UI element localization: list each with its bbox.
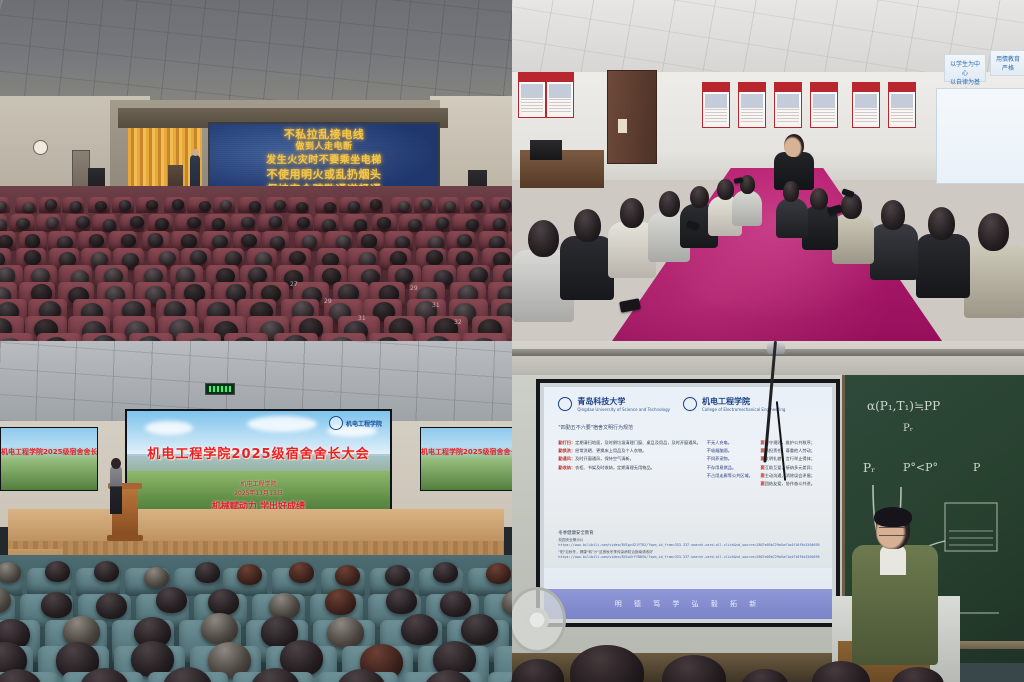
participant-body [832,214,874,264]
slide-bullet: 勤通风：及时开窗通风，保持空气清新。 [558,456,700,462]
slide-university-name-en: Qingdao University of Science and Techno… [577,407,670,412]
slide-bullet: 勤收纳：衣柜、书架及时收纳，定期清理无用物品。 [558,465,700,471]
seat-number: 31 [432,302,440,309]
audience-head [499,199,511,209]
audience-head [0,235,13,248]
audience-head [46,217,60,229]
photo-bottom-right-classroom-briefing: α(P₁,T₁)≒PP Pᵣ Pᵣ P°<P° P [512,341,1024,682]
exit-sign-icon [205,383,235,395]
audience-head [296,202,308,212]
student-audience [0,555,512,682]
audience-head [335,565,360,586]
wall-poster [852,82,880,128]
participant-head [574,209,601,242]
participant-body [916,234,970,298]
audience-head [401,614,438,645]
student-head [892,667,944,682]
slide-bullet: 要文明礼貌，言行举止得体； [760,456,820,462]
participant-body [870,224,918,280]
audience-head [41,592,72,618]
slide-column-right: 要遵守规则，维护公共秩序；要承担责任，尊重他人劳动；要文明礼貌，言行举止得体；要… [760,440,820,488]
slide-footer-motto: 明 德 笃 学 弘 毅 拓 新 [615,599,762,609]
side-led-screen-left: 机电工程学院2025级宿舍舍长大会 [0,427,98,491]
slide-bullet: 勤打扫：定期清扫地面，及时倒垃圾清理门窗、桌且及用品，及时开窗通风。 [558,440,700,446]
poster-image [891,94,913,108]
poster-text [777,109,799,123]
speaker-at-podium [110,466,122,514]
cloud-shape [247,416,317,432]
participant-head [620,198,644,227]
slide-university-name: 青岛科技大学 [577,396,670,407]
slide-bullet: 不吸烟酗酒。 [707,448,755,454]
participant-head [978,213,1009,251]
poster-text [855,109,877,123]
audience-head [130,216,144,228]
slide-college-name: 机电工程学院 [702,396,785,407]
student-head [662,655,726,682]
audience-head [348,201,360,211]
audience-head [23,202,35,212]
side-led-screen-right: 机电工程学院2025级宿舍舍长大会 [420,427,512,491]
presenter-hair [874,507,912,527]
audience-head [325,589,356,615]
audience-head [386,588,417,614]
seat-number: 27 [290,281,298,288]
link1-url[interactable]: https://www.bilibili.com/video/BV1gx421Y… [558,543,820,547]
slide-college-name-en: College of Electromechanical Engineering [702,407,785,412]
led-line-4: 不使用明火或乱扔烟头 [210,166,438,182]
cloud-shape [145,421,193,435]
audience-head [440,591,471,617]
link2-url[interactable]: https://www.bilibili.com/video/BV1wVrYY8… [558,555,820,559]
student-head [570,645,644,682]
poster-header [889,83,915,92]
audience-head [225,251,242,266]
audience-head [103,219,117,231]
hall-seat [488,672,512,682]
audience-head [16,218,30,230]
audience-head [190,250,207,265]
poster-image [855,94,877,108]
audience-head [385,565,410,586]
participant-head [717,179,734,200]
wall-poster [546,72,574,118]
wall-poster [518,72,546,118]
map-region [937,129,955,143]
screen-org: 机电工程学院 [127,479,390,488]
audience-head [121,234,136,247]
college-logo-text: 机电工程学院 [346,419,382,428]
audience-head [466,219,480,231]
student-head [812,661,870,682]
wall-banner-right-text: 用情教育 严格 [993,55,1023,73]
room-door [607,70,657,164]
participant-body [732,190,762,226]
audience-head [237,564,262,585]
poster-image [521,84,543,98]
audience-head [269,593,300,619]
audience-head [212,218,226,230]
slide-footer: 明 德 笃 学 弘 毅 拓 新 [544,589,832,619]
audience-head [461,614,498,645]
audience-head [456,251,473,266]
audience-head [354,219,368,231]
audience-head [361,234,376,247]
participant-head [881,200,905,229]
poster-image [813,94,835,108]
poster-header [519,73,545,82]
audience-head [241,234,256,247]
slide-bullet: 勤换洗：经常洗晒、更换床上用品及个人衣物。 [558,448,700,454]
audience-head [269,216,283,228]
map-region [937,179,951,195]
poster-text [891,109,913,123]
audience-head [289,562,314,583]
glasses-icon [879,527,907,536]
participant-body [776,198,808,238]
audience-head [148,233,163,246]
student-head [512,659,564,682]
china-map-graphic [936,88,1024,184]
audience-head [249,201,261,211]
audience-head [336,235,351,248]
audience-head [408,219,422,231]
audience-head [390,251,407,266]
wall-banner-right: 用情教育 严格 [990,50,1024,76]
audience-head [486,563,511,584]
participant-head [928,207,955,240]
wall-poster [774,82,802,128]
seated-audience: 272929313132 [0,186,512,341]
college-seal-icon [683,397,697,411]
audience-head [433,562,458,583]
seat-number: 32 [454,319,462,326]
audience-head [457,234,472,247]
slide-bullet: 要承担责任，尊重他人劳动； [760,448,820,454]
audience-head [0,562,21,583]
audience-head [208,589,239,615]
poster-header [547,73,573,82]
audience-head [89,234,104,247]
participant-body [560,236,614,300]
student-head [742,669,788,682]
audience-head [370,199,382,209]
poster-image [777,94,799,108]
audience-head [241,217,255,229]
university-seal-icon [329,416,343,430]
poster-text [705,109,727,123]
participant-head [784,134,804,157]
audience-head [94,561,119,582]
front-row-students [512,641,1024,682]
slide-links-block: 冬季健康安全教育 校园安全警示片 https://www.bilibili.co… [558,530,820,559]
slide-bullet: 要遵守规则，维护公共秩序； [760,440,820,446]
audience-head [426,250,443,265]
audience-head [25,234,40,247]
audience-head [57,236,72,249]
audience-head [274,200,286,210]
slide-bullet: 要互助互爱，接纳多元差异； [760,465,820,471]
audience-head [469,267,488,283]
presentation-slide: 青岛科技大学 Qingdao University of Science and… [544,387,832,619]
audience-head [159,251,176,266]
audience-head [119,200,131,210]
map-region [937,159,953,179]
audience-head [24,250,41,265]
wall-banner-left: 以学生为中心 以自律为基础 [944,54,986,82]
audience-head [0,669,42,682]
poster-header [775,83,801,92]
audience-head [76,216,90,228]
participant-head [528,220,559,257]
poster-image [741,94,763,108]
audience-head [70,201,82,211]
audience-head [395,236,410,249]
audience-head [96,593,127,619]
audience-head [195,562,220,583]
poster-text [741,109,763,123]
participant-head [659,191,680,217]
audience-head [324,202,336,212]
participant-body [964,244,1024,318]
college-logo: 机电工程学院 [329,416,382,430]
poster-header [739,83,765,92]
photo-bottom-left-dorm-leader-meeting: 机电工程学院2025级宿舍舍长大会 机电工程学院2025级宿舍舍长大会 机电工程… [0,341,512,682]
poster-image [705,94,727,108]
seat-number: 29 [324,298,332,305]
projection-screen: 青岛科技大学 Qingdao University of Science and… [536,379,840,627]
photo-top-left-auditorium: 不私拉乱接电线 做到人走电断 发生火灾时不要乘坐电梯 不使用明火或乱扔烟头 保持… [0,0,512,341]
audience-head [146,200,158,210]
audience-head [181,234,196,247]
poster-image [549,84,571,98]
screen-date: 2025年11月13日 [127,488,390,497]
links-heading: 冬季健康安全教育 [558,530,820,536]
seat-number: 31 [358,315,366,322]
participant-head [690,186,709,209]
wall-poster [810,82,838,128]
slide-bullet: 要主动沟通，消除误会矛盾； [760,473,820,479]
photo-top-right-meeting-room: 以学生为中心 以自律为基础 用情教育 严格 [512,0,1024,341]
screen-main-title: 机电工程学院2025级宿舍舍长大会 [127,443,390,462]
qust-seal-icon [558,397,572,411]
audience-head [201,613,238,644]
side-screen-right-title: 机电工程学院2025级宿舍舍长大会 [421,447,512,457]
poster-header [853,83,879,92]
slide-bullet: 不饲养宠物。 [707,456,755,462]
slide-bullet: 不占用走廊等公共区域。 [707,473,755,479]
poster-text [521,99,543,113]
seat-number: 29 [410,285,418,292]
main-led-screen: 机电工程学院 机电工程学院2025级宿舍舍长大会 机电工程学院 2025年11月… [125,409,392,525]
participant-head [810,188,828,211]
audience-head [327,617,364,648]
audience-head [155,218,169,230]
poster-text [813,109,835,123]
poster-header [811,83,837,92]
audience-head [45,199,57,209]
slide-subtitle: "四勤五不六要"宿舍文明行为规范 [558,424,633,431]
audience-head [420,199,432,209]
slide-column-middle: 不无人充电。不吸烟酗酒。不饲养宠物。不存用易燃品。不占用走廊等公共区域。 [707,440,755,488]
poster-text [549,99,571,113]
led-line-3: 发生火灾时不要乘坐电梯 [210,151,438,166]
participant-head [783,181,799,202]
audience-head [212,235,227,248]
slide-column-left: 勤打扫：定期清扫地面，及时倒垃圾清理门窗、桌且及用品，及时开窗通风。勤换洗：经常… [558,440,700,488]
map-region [937,143,967,159]
audience-head [444,201,456,211]
audience-head [199,201,211,211]
side-screen-left-title: 机电工程学院2025级宿舍舍长大会 [1,447,97,457]
photo-collage: 不私拉乱接电线 做到人走电断 发生火灾时不要乘坐电梯 不使用明火或乱扔烟头 保持… [0,0,1024,682]
presenter-shirt [880,545,906,575]
slide-bullet: 不存用易燃品。 [707,465,755,471]
slide-bullet: 要团结友爱，协作奋斗共进。 [760,481,820,487]
laptop-icon [530,140,562,160]
audience-head [220,200,232,210]
slide-bullet: 不无人充电。 [707,440,755,446]
audience-head [377,217,391,229]
map-region [937,89,983,129]
wall-clock-icon [33,140,48,155]
wall-poster [888,82,916,128]
audience-head [493,218,507,230]
poster-header [703,83,729,92]
audience-head [156,587,187,613]
wall-poster [702,82,730,128]
audience-head [172,199,184,209]
wall-poster [738,82,766,128]
audience-head [289,251,306,266]
audience-head [322,219,336,231]
audience-head [144,567,169,588]
